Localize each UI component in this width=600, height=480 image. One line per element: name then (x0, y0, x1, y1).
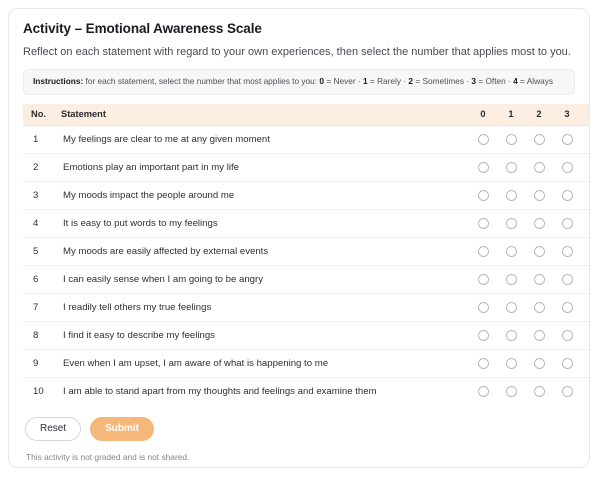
instructions-scale-label-4: = Always (518, 76, 553, 86)
radio-cell-row2-option0[interactable] (469, 153, 497, 181)
radio-button-row2-option4[interactable] (590, 162, 591, 173)
radio-cell-row4-option3[interactable] (553, 209, 581, 237)
radio-cell-row2-option4[interactable] (581, 153, 590, 181)
radio-cell-row9-option0[interactable] (469, 349, 497, 377)
table-row: 1My feelings are clear to me at any give… (23, 125, 590, 153)
table-row: 10I am able to stand apart from my thoug… (23, 377, 590, 405)
table-row: 3My moods impact the people around me (23, 181, 590, 209)
radio-button-row3-option0[interactable] (478, 190, 489, 201)
radio-cell-row2-option1[interactable] (497, 153, 525, 181)
radio-button-row4-option2[interactable] (534, 218, 545, 229)
radio-button-row9-option2[interactable] (534, 358, 545, 369)
header-option-1: 1 (497, 104, 525, 126)
radio-button-row10-option3[interactable] (562, 386, 573, 397)
footer-note: This activity is not graded and is not s… (23, 452, 575, 462)
radio-button-row9-option1[interactable] (506, 358, 517, 369)
radio-cell-row8-option1[interactable] (497, 321, 525, 349)
radio-button-row10-option0[interactable] (478, 386, 489, 397)
radio-button-row4-option3[interactable] (562, 218, 573, 229)
radio-button-row3-option2[interactable] (534, 190, 545, 201)
radio-cell-row4-option0[interactable] (469, 209, 497, 237)
radio-cell-row3-option2[interactable] (525, 181, 553, 209)
radio-cell-row7-option2[interactable] (525, 293, 553, 321)
row-statement: It is easy to put words to my feelings (61, 209, 469, 237)
table-row: 7I readily tell others my true feelings (23, 293, 590, 321)
row-statement: I find it easy to describe my feelings (61, 321, 469, 349)
radio-button-row7-option0[interactable] (478, 302, 489, 313)
radio-button-row9-option4[interactable] (590, 358, 591, 369)
table-row: 6I can easily sense when I am going to b… (23, 265, 590, 293)
radio-cell-row3-option3[interactable] (553, 181, 581, 209)
radio-button-row4-option1[interactable] (506, 218, 517, 229)
table-row: 9Even when I am upset, I am aware of wha… (23, 349, 590, 377)
header-no: No. (23, 104, 61, 126)
scale-table: No. Statement 0 1 2 3 4 1My feelings are… (23, 104, 590, 405)
table-row: 8I find it easy to describe my feelings (23, 321, 590, 349)
footer-actions: Reset Submit (23, 417, 575, 441)
header-option-0: 0 (469, 104, 497, 126)
radio-cell-row1-option0[interactable] (469, 125, 497, 153)
radio-button-row2-option1[interactable] (506, 162, 517, 173)
radio-button-row6-option3[interactable] (562, 274, 573, 285)
row-number: 1 (23, 125, 61, 153)
table-row: 4It is easy to put words to my feelings (23, 209, 590, 237)
radio-button-row10-option4[interactable] (590, 386, 591, 397)
instructions-scale-label-3: = Often (476, 76, 506, 86)
table-body: 1My feelings are clear to me at any give… (23, 125, 590, 405)
table-header-row: No. Statement 0 1 2 3 4 (23, 104, 590, 126)
radio-button-row5-option1[interactable] (506, 246, 517, 257)
instructions-banner: Instructions: for each statement, select… (23, 69, 575, 94)
radio-cell-row1-option1[interactable] (497, 125, 525, 153)
radio-button-row2-option3[interactable] (562, 162, 573, 173)
radio-cell-row3-option4[interactable] (581, 181, 590, 209)
instructions-separator: · (356, 76, 363, 86)
radio-cell-row5-option4[interactable] (581, 237, 590, 265)
radio-button-row1-option1[interactable] (506, 134, 517, 145)
radio-button-row1-option0[interactable] (478, 134, 489, 145)
radio-button-row6-option4[interactable] (590, 274, 591, 285)
radio-button-row3-option3[interactable] (562, 190, 573, 201)
radio-button-row10-option1[interactable] (506, 386, 517, 397)
row-statement: My feelings are clear to me at any given… (61, 125, 469, 153)
radio-cell-row7-option3[interactable] (553, 293, 581, 321)
radio-button-row5-option2[interactable] (534, 246, 545, 257)
radio-cell-row8-option3[interactable] (553, 321, 581, 349)
radio-cell-row10-option1[interactable] (497, 377, 525, 405)
radio-button-row7-option2[interactable] (534, 302, 545, 313)
radio-button-row4-option4[interactable] (590, 218, 591, 229)
radio-cell-row7-option0[interactable] (469, 293, 497, 321)
header-option-2: 2 (525, 104, 553, 126)
radio-button-row4-option0[interactable] (478, 218, 489, 229)
activity-card: Activity – Emotional Awareness Scale Ref… (8, 8, 590, 468)
row-number: 5 (23, 237, 61, 265)
reset-button[interactable]: Reset (25, 417, 81, 441)
row-number: 2 (23, 153, 61, 181)
radio-button-row1-option3[interactable] (562, 134, 573, 145)
instructions-label: Instructions: (33, 76, 83, 86)
header-statement: Statement (61, 104, 469, 126)
radio-button-row6-option1[interactable] (506, 274, 517, 285)
radio-cell-row2-option3[interactable] (553, 153, 581, 181)
row-number: 7 (23, 293, 61, 321)
radio-button-row1-option4[interactable] (590, 134, 591, 145)
instructions-scale: 0 = Never · 1 = Rarely · 2 = Sometimes ·… (319, 76, 553, 86)
table-row: 5My moods are easily affected by externa… (23, 237, 590, 265)
radio-button-row7-option1[interactable] (506, 302, 517, 313)
radio-cell-row1-option2[interactable] (525, 125, 553, 153)
radio-cell-row9-option2[interactable] (525, 349, 553, 377)
radio-button-row3-option1[interactable] (506, 190, 517, 201)
radio-cell-row6-option0[interactable] (469, 265, 497, 293)
row-number: 3 (23, 181, 61, 209)
radio-cell-row6-option1[interactable] (497, 265, 525, 293)
radio-cell-row2-option2[interactable] (525, 153, 553, 181)
radio-button-row10-option2[interactable] (534, 386, 545, 397)
radio-button-row6-option0[interactable] (478, 274, 489, 285)
radio-cell-row7-option4[interactable] (581, 293, 590, 321)
row-number: 10 (23, 377, 61, 405)
radio-cell-row9-option4[interactable] (581, 349, 590, 377)
radio-button-row8-option3[interactable] (562, 330, 573, 341)
row-statement: My moods are easily affected by external… (61, 237, 469, 265)
row-statement: Even when I am upset, I am aware of what… (61, 349, 469, 377)
row-number: 4 (23, 209, 61, 237)
row-number: 6 (23, 265, 61, 293)
instructions-scale-label-1: = Rarely (368, 76, 401, 86)
radio-button-row5-option3[interactable] (562, 246, 573, 257)
header-option-3: 3 (553, 104, 581, 126)
radio-button-row8-option0[interactable] (478, 330, 489, 341)
row-statement: I am able to stand apart from my thought… (61, 377, 469, 405)
radio-cell-row4-option4[interactable] (581, 209, 590, 237)
table-row: 2Emotions play an important part in my l… (23, 153, 590, 181)
radio-cell-row9-option1[interactable] (497, 349, 525, 377)
radio-button-row2-option0[interactable] (478, 162, 489, 173)
radio-cell-row5-option0[interactable] (469, 237, 497, 265)
row-statement: My moods impact the people around me (61, 181, 469, 209)
radio-cell-row10-option0[interactable] (469, 377, 497, 405)
radio-cell-row6-option3[interactable] (553, 265, 581, 293)
radio-cell-row4-option1[interactable] (497, 209, 525, 237)
submit-button[interactable]: Submit (90, 417, 154, 441)
row-statement: I can easily sense when I am going to be… (61, 265, 469, 293)
radio-button-row6-option2[interactable] (534, 274, 545, 285)
row-statement: I readily tell others my true feelings (61, 293, 469, 321)
page-subtitle: Reflect on each statement with regard to… (23, 45, 575, 59)
instructions-lead: for each statement, select the number th… (83, 76, 319, 86)
radio-cell-row8-option0[interactable] (469, 321, 497, 349)
radio-cell-row10-option4[interactable] (581, 377, 590, 405)
radio-cell-row9-option3[interactable] (553, 349, 581, 377)
page-title: Activity – Emotional Awareness Scale (23, 21, 575, 37)
radio-button-row3-option4[interactable] (590, 190, 591, 201)
radio-cell-row8-option2[interactable] (525, 321, 553, 349)
row-number: 9 (23, 349, 61, 377)
radio-button-row9-option3[interactable] (562, 358, 573, 369)
row-number: 8 (23, 321, 61, 349)
radio-button-row2-option2[interactable] (534, 162, 545, 173)
radio-cell-row5-option2[interactable] (525, 237, 553, 265)
radio-cell-row10-option3[interactable] (553, 377, 581, 405)
radio-button-row7-option4[interactable] (590, 302, 591, 313)
radio-cell-row8-option4[interactable] (581, 321, 590, 349)
radio-cell-row1-option3[interactable] (553, 125, 581, 153)
radio-button-row9-option0[interactable] (478, 358, 489, 369)
radio-button-row8-option4[interactable] (590, 330, 591, 341)
instructions-scale-label-0: = Never (324, 76, 356, 86)
radio-button-row7-option3[interactable] (562, 302, 573, 313)
header-option-4: 4 (581, 104, 590, 126)
radio-button-row8-option2[interactable] (534, 330, 545, 341)
instructions-scale-label-2: = Sometimes (413, 76, 464, 86)
radio-button-row5-option4[interactable] (590, 246, 591, 257)
radio-cell-row3-option1[interactable] (497, 181, 525, 209)
radio-button-row8-option1[interactable] (506, 330, 517, 341)
radio-cell-row1-option4[interactable] (581, 125, 590, 153)
radio-cell-row3-option0[interactable] (469, 181, 497, 209)
radio-button-row1-option2[interactable] (534, 134, 545, 145)
radio-cell-row5-option1[interactable] (497, 237, 525, 265)
radio-button-row5-option0[interactable] (478, 246, 489, 257)
radio-cell-row7-option1[interactable] (497, 293, 525, 321)
radio-cell-row6-option4[interactable] (581, 265, 590, 293)
row-statement: Emotions play an important part in my li… (61, 153, 469, 181)
radio-cell-row5-option3[interactable] (553, 237, 581, 265)
radio-cell-row6-option2[interactable] (525, 265, 553, 293)
radio-cell-row10-option2[interactable] (525, 377, 553, 405)
radio-cell-row4-option2[interactable] (525, 209, 553, 237)
